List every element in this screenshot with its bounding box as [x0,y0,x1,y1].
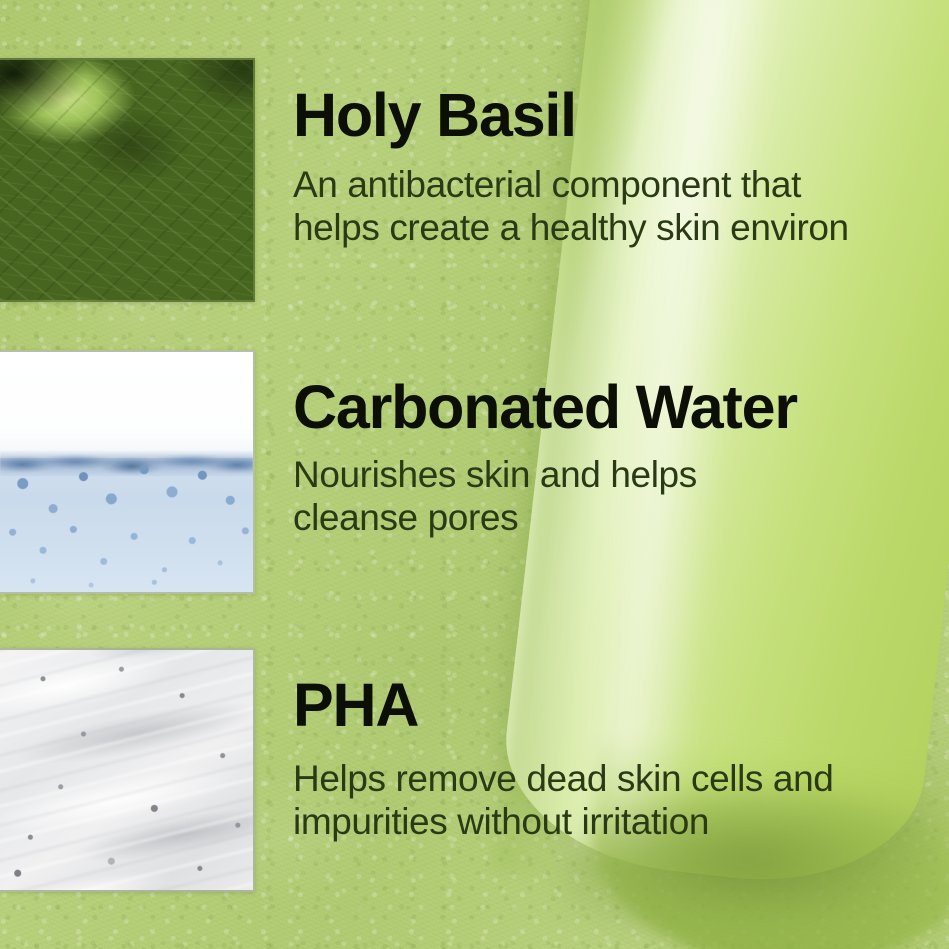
gel-speck-dots [0,650,253,890]
pha-gel-texture-photo [0,648,255,892]
ingredient-description-holy-basil: An antibacterial component that helps cr… [293,164,949,250]
ingredient-row-carbonated-water: Carbonated Water Nourishes skin and help… [0,350,949,594]
ingredient-title-pha: PHA [293,674,949,736]
ingredient-description-carbonated-water: Nourishes skin and helps cleanse pores [293,454,949,540]
ingredient-description-pha: Helps remove dead skin cells and impurit… [293,758,949,844]
ingredient-row-pha: PHA Helps remove dead skin cells and imp… [0,648,949,892]
carbonated-water-photo [0,350,255,594]
ingredient-copy-carbonated-water: Carbonated Water Nourishes skin and help… [293,350,949,540]
ingredient-infographic-poster: Holy Basil An antibacterial component th… [0,0,949,949]
leaf-shadow-overlay [0,60,253,300]
ingredient-copy-holy-basil: Holy Basil An antibacterial component th… [293,58,949,250]
ingredient-copy-pha: PHA Helps remove dead skin cells and imp… [293,648,949,844]
water-bubbles [0,453,253,592]
ingredient-title-carbonated-water: Carbonated Water [293,376,949,438]
water-air-area [0,352,253,458]
ingredient-title-holy-basil: Holy Basil [293,84,949,146]
basil-leaves-photo [0,58,255,302]
ingredient-row-holy-basil: Holy Basil An antibacterial component th… [0,58,949,302]
